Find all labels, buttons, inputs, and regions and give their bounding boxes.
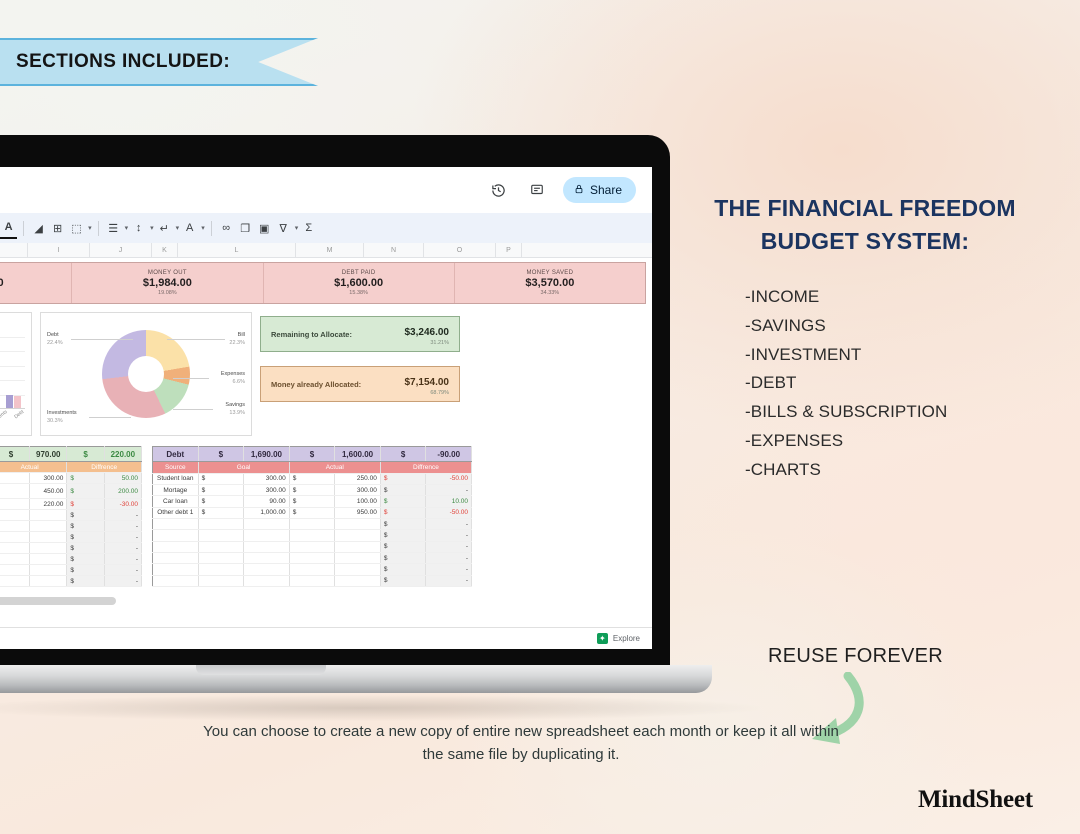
brand-logo: MindSheet	[918, 786, 1033, 814]
insert-comment-icon[interactable]: ❐	[237, 217, 254, 239]
cell-source	[153, 541, 199, 552]
cell-currency	[0, 554, 30, 565]
cell-source: Student loan	[153, 473, 199, 484]
table-row[interactable]: $-	[153, 541, 472, 552]
summary-label: DEBT PAID	[342, 270, 376, 276]
cell-currency: $	[0, 473, 30, 484]
cell-difference: -	[426, 552, 472, 563]
cell-difference: 50.00	[104, 473, 141, 484]
ribbon-label: SECTIONS INCLUDED:	[0, 51, 230, 73]
merge-cells-icon[interactable]: ⬚	[68, 217, 85, 239]
cell-currency: $	[380, 541, 426, 552]
column-goal: Goal	[198, 462, 289, 473]
donut-label-investments: Investments30.3%	[47, 409, 77, 426]
laptop-lid: Share 10 + B I S A ◢ ⊞ ⬚ ▾ ☰ ▾ ↕ ▾	[0, 135, 670, 665]
bar-chart-plot	[0, 337, 25, 409]
cell-actual: 300.00	[335, 485, 381, 496]
bar-chart-legend: GoalActual	[0, 313, 31, 325]
column-header-p[interactable]: P	[496, 243, 522, 257]
feature-item: -DEBT	[745, 369, 1040, 398]
cell-goal	[244, 541, 290, 552]
cell-difference: -	[104, 532, 141, 543]
column-header-i[interactable]: I	[28, 243, 90, 257]
cell-currency: $	[67, 484, 104, 499]
donut-leader-line	[173, 409, 213, 410]
chevron-down-icon[interactable]: ▾	[125, 224, 129, 232]
cell-actual	[30, 576, 67, 587]
summary-label: MONEY SAVED	[526, 270, 573, 276]
horizontal-scrollbar[interactable]	[0, 597, 116, 605]
donut-label-bill: Bill22.3%	[229, 331, 245, 348]
table-title-row: vings$750.00$970.00$220.00	[0, 447, 142, 462]
title-goal: 1,690.00	[244, 447, 290, 462]
table-row[interactable]: Mortage$300.00$300.00$-	[153, 485, 472, 496]
table-row[interactable]: $-	[0, 510, 142, 521]
cell-currency: $	[198, 473, 244, 484]
cell-currency	[198, 519, 244, 530]
cell-difference: -50.00	[426, 507, 472, 518]
cell-currency: $	[67, 510, 104, 521]
vertical-align-icon[interactable]: ↕	[130, 217, 147, 239]
cell-difference: -	[426, 541, 472, 552]
cell-currency	[0, 543, 30, 554]
table-row[interactable]: $-	[0, 554, 142, 565]
allocation-percent: 68.79%	[405, 390, 450, 396]
cell-currency	[289, 575, 335, 586]
reuse-forever-text: REUSE FOREVER	[768, 645, 943, 668]
cell-difference: -50.00	[426, 473, 472, 484]
table-row[interactable]: Student loan$300.00$250.00$-50.00	[153, 473, 472, 484]
goal-vs-actual-bar-chart[interactable]: GoalActual IncomeBillExpensesSavingsInve…	[0, 312, 32, 436]
table-row[interactable]: $-	[153, 575, 472, 586]
cell-currency	[289, 541, 335, 552]
cell-difference: 10.00	[426, 496, 472, 507]
column-difference: Diffrence	[67, 462, 142, 473]
summary-label: MONEY OUT	[148, 270, 187, 276]
column-header-k[interactable]: K	[152, 243, 178, 257]
charts-row: GoalActual IncomeBillExpensesSavingsInve…	[0, 304, 652, 436]
cell-difference: -	[104, 521, 141, 532]
currency-symbol: $	[198, 447, 244, 462]
summary-cell: MONEY IN$10,400.00100.00%	[0, 263, 72, 303]
cell-goal: 300.00	[244, 485, 290, 496]
allocation-boxes: Remaining to Allocate:$3,246.0031.21%Mon…	[260, 312, 460, 436]
cell-currency	[0, 532, 30, 543]
feature-list: -INCOME-SAVINGS-INVESTMENT-DEBT-BILLS & …	[745, 283, 1040, 484]
cell-currency: $	[380, 519, 426, 530]
cell-actual	[30, 565, 67, 576]
cell-difference: -	[426, 485, 472, 496]
feature-item: -INCOME	[745, 283, 1040, 312]
table-row[interactable]: $-	[0, 543, 142, 554]
explore-icon: ✦	[597, 633, 608, 644]
laptop-screen: Share 10 + B I S A ◢ ⊞ ⬚ ▾ ☰ ▾ ↕ ▾	[0, 167, 652, 649]
chevron-down-icon[interactable]: ▾	[295, 224, 299, 232]
donut-leader-line	[89, 417, 131, 418]
feature-item: -BILLS & SUBSCRIPTION	[745, 398, 1040, 427]
explore-label: Explore	[613, 634, 640, 643]
title-actual: 970.00	[30, 447, 67, 462]
toolbar-divider	[98, 221, 99, 236]
cell-currency: $	[289, 507, 335, 518]
cell-source: Mortage	[153, 485, 199, 496]
column-headers[interactable]: GHIJKLMNOP	[0, 243, 652, 258]
table-row[interactable]: d account$250.00$300.00$50.00	[0, 473, 142, 484]
allocation-percent: 31.21%	[405, 340, 450, 346]
allocation-values: $3,246.0031.21%	[405, 322, 450, 346]
cell-actual	[335, 530, 381, 541]
donut-label-expenses: Expenses6.6%	[221, 370, 245, 387]
cell-currency	[289, 519, 335, 530]
spending-breakdown-donut-chart[interactable]: Debt22.4% Bill22.3% Expenses6.6% Savings…	[40, 312, 252, 436]
cell-currency	[0, 521, 30, 532]
allocation-values: $7,154.0068.79%	[405, 372, 450, 396]
laptop-mockup: Share 10 + B I S A ◢ ⊞ ⬚ ▾ ☰ ▾ ↕ ▾	[0, 135, 670, 693]
table-row[interactable]: $-	[153, 530, 472, 541]
cell-currency	[0, 565, 30, 576]
cell-source	[153, 552, 199, 563]
share-button[interactable]: Share	[563, 177, 636, 203]
bar-goal	[6, 395, 13, 408]
cell-currency: $	[67, 532, 104, 543]
feature-item: -EXPENSES	[745, 427, 1040, 456]
cell-actual	[30, 543, 67, 554]
cell-actual	[335, 564, 381, 575]
cell-actual	[335, 519, 381, 530]
cell-currency: $	[380, 496, 426, 507]
cell-actual	[30, 510, 67, 521]
bar-actual	[14, 396, 21, 408]
cell-difference: -	[104, 554, 141, 565]
text-wrap-icon[interactable]: ↵	[156, 217, 173, 239]
cell-goal: 1,000.00	[244, 507, 290, 518]
title-difference: -90.00	[426, 447, 472, 462]
laptop-shadow	[0, 695, 760, 721]
title-actual: 1,600.00	[335, 447, 381, 462]
summary-value: $10,400.00	[0, 277, 4, 289]
cell-difference: -	[104, 565, 141, 576]
text-rotation-icon[interactable]: A	[181, 217, 198, 239]
column-header-j[interactable]: J	[90, 243, 152, 257]
bar-group	[6, 337, 21, 408]
cell-source	[153, 519, 199, 530]
borders-icon[interactable]: ⊞	[49, 217, 66, 239]
donut-leader-line	[173, 378, 209, 379]
summary-value: $3,570.00	[525, 277, 574, 289]
cell-actual	[30, 521, 67, 532]
cell-currency	[289, 552, 335, 563]
sections-included-ribbon: SECTIONS INCLUDED:	[0, 38, 318, 86]
cell-actual: 950.00	[335, 507, 381, 518]
table-header-row: ourceGoalActualDiffrence	[0, 462, 142, 473]
allocation-value: $7,154.00	[405, 377, 450, 388]
cell-difference: -	[426, 575, 472, 586]
caption-text: You can choose to create a new copy of e…	[196, 720, 846, 767]
allocation-value: $3,246.00	[405, 327, 450, 338]
cell-goal: 300.00	[244, 473, 290, 484]
insert-link-icon[interactable]: ∞	[218, 217, 235, 239]
currency-symbol: $	[0, 447, 30, 462]
column-header-l[interactable]: L	[178, 243, 296, 257]
column-header-m[interactable]: M	[296, 243, 364, 257]
feature-item: -CHARTS	[745, 456, 1040, 485]
cell-currency: $	[380, 575, 426, 586]
functions-icon[interactable]: Σ	[300, 217, 317, 239]
summary-percent: 34.33%	[541, 290, 560, 296]
cell-currency: $	[380, 564, 426, 575]
column-actual: Actual	[0, 462, 67, 473]
cell-currency	[289, 530, 335, 541]
cell-currency: $	[67, 521, 104, 532]
cell-currency	[198, 530, 244, 541]
cell-currency: $	[198, 507, 244, 518]
chevron-down-icon[interactable]: ▾	[201, 224, 205, 232]
horizontal-align-icon[interactable]: ☰	[105, 217, 122, 239]
column-header-o[interactable]: O	[424, 243, 496, 257]
donut-ring	[102, 330, 190, 418]
cell-currency	[198, 552, 244, 563]
cell-currency	[198, 575, 244, 586]
donut-label-savings: Savings13.9%	[225, 401, 245, 418]
cell-currency: $	[67, 543, 104, 554]
table-row[interactable]: ency funds$250.00$450.00$200.00	[0, 484, 142, 499]
cell-currency	[289, 564, 335, 575]
cell-source: Car loan	[153, 496, 199, 507]
toolbar-divider	[23, 221, 24, 236]
cell-difference: -	[426, 530, 472, 541]
cell-currency: $	[289, 496, 335, 507]
summary-percent: 19.08%	[158, 290, 177, 296]
page-title: THE FINANCIAL FREEDOM BUDGET SYSTEM:	[690, 192, 1040, 257]
x-axis-label: Debt	[14, 409, 37, 434]
cell-goal: 90.00	[244, 496, 290, 507]
summary-cell: MONEY SAVED$3,570.0034.33%	[455, 263, 645, 303]
donut-label-debt: Debt22.4%	[47, 331, 63, 348]
title-line-1: THE FINANCIAL FREEDOM	[690, 192, 1040, 225]
summary-value: $1,600.00	[334, 277, 383, 289]
insert-chart-icon[interactable]: ▣	[256, 217, 273, 239]
summary-cell: DEBT PAID$1,600.0015.38%	[264, 263, 455, 303]
cell-difference: -	[426, 519, 472, 530]
table-row[interactable]: $-	[0, 521, 142, 532]
laptop-base	[0, 665, 712, 693]
feature-item: -INVESTMENT	[745, 341, 1040, 370]
sheets-topbar: Share	[0, 167, 652, 213]
cell-actual	[335, 541, 381, 552]
cell-actual	[335, 552, 381, 563]
cell-source	[153, 564, 199, 575]
tables-row: vings$750.00$970.00$220.00ourceGoalActua…	[0, 436, 652, 587]
cell-actual: 450.00	[30, 484, 67, 499]
cell-currency: $	[67, 565, 104, 576]
currency-symbol: $	[67, 447, 104, 462]
cell-actual: 300.00	[30, 473, 67, 484]
savings-table[interactable]: vings$750.00$970.00$220.00ourceGoalActua…	[0, 446, 142, 587]
lock-icon	[574, 183, 584, 197]
cell-source: Other debt 1	[153, 507, 199, 518]
cell-goal	[244, 552, 290, 563]
chevron-down-icon[interactable]: ▾	[88, 224, 92, 232]
bar-chart-x-labels: IncomeBillExpensesSavingsInvestmentsDebt	[0, 409, 25, 433]
table-row[interactable]: $-	[153, 552, 472, 563]
cell-goal	[244, 575, 290, 586]
column-difference: Diffrence	[380, 462, 471, 473]
cell-currency: $	[380, 530, 426, 541]
cell-currency: $	[289, 473, 335, 484]
table-row[interactable]: $-	[153, 564, 472, 575]
summary-percent: 15.38%	[349, 290, 368, 296]
cell-currency: $	[380, 485, 426, 496]
cell-currency: $	[67, 499, 104, 510]
table-header-row: SourceGoalActualDiffrence	[153, 462, 472, 473]
cell-currency	[0, 510, 30, 521]
cell-difference: -	[104, 510, 141, 521]
cell-goal	[244, 519, 290, 530]
cell-currency: $	[67, 576, 104, 587]
allocation-box: Money already Allocated:$7,154.0068.79%	[260, 366, 460, 402]
table-title-row: Debt$1,690.00$1,600.00$-90.00	[153, 447, 472, 462]
sheets-bottom-bar: nthly spreadsheet ▾ ✦ Explore	[0, 627, 652, 649]
comment-icon[interactable]	[525, 178, 549, 202]
column-header-h[interactable]: H	[0, 243, 28, 257]
cell-currency: $	[289, 485, 335, 496]
table-row[interactable]: $-	[153, 519, 472, 530]
table-row[interactable]: $-	[0, 532, 142, 543]
chevron-down-icon[interactable]: ▾	[150, 224, 154, 232]
cell-source	[153, 575, 199, 586]
cell-currency: $	[380, 473, 426, 484]
allocation-label: Money already Allocated:	[271, 380, 361, 389]
table-row[interactable]: Car loan$90.00$100.00$10.00	[153, 496, 472, 507]
fill-color-icon[interactable]: ◢	[30, 217, 47, 239]
cell-actual	[30, 554, 67, 565]
title-line-2: BUDGET SYSTEM:	[690, 225, 1040, 258]
chevron-down-icon[interactable]: ▾	[176, 224, 180, 232]
column-actual: Actual	[289, 462, 380, 473]
column-header-n[interactable]: N	[364, 243, 424, 257]
table-row[interactable]: ple fund$250.00$220.00$-30.00	[0, 499, 142, 510]
cell-currency	[0, 576, 30, 587]
cell-currency: $	[0, 499, 30, 510]
summary-strip: MONEY IN$10,400.00100.00%MONEY OUT$1,984…	[0, 262, 646, 304]
cell-currency: $	[198, 496, 244, 507]
cell-currency: $	[67, 473, 104, 484]
cell-currency: $	[380, 507, 426, 518]
feature-item: -SAVINGS	[745, 312, 1040, 341]
cell-actual: 100.00	[335, 496, 381, 507]
right-content-panel: THE FINANCIAL FREEDOM BUDGET SYSTEM: -IN…	[690, 192, 1040, 484]
history-icon[interactable]	[487, 178, 511, 202]
cell-goal	[244, 530, 290, 541]
column-source: Source	[153, 462, 199, 473]
donut-leader-line	[71, 339, 133, 340]
cell-currency: $	[67, 554, 104, 565]
cell-difference: 200.00	[104, 484, 141, 499]
filter-icon[interactable]: ∇	[275, 217, 292, 239]
cell-goal	[244, 564, 290, 575]
table-title: Debt	[153, 447, 199, 462]
sheets-toolbar[interactable]: 10 + B I S A ◢ ⊞ ⬚ ▾ ☰ ▾ ↕ ▾ ↵ ▾ A ▾	[0, 213, 652, 243]
text-color-icon[interactable]: A	[0, 217, 17, 239]
cell-currency: $	[198, 485, 244, 496]
debt-table[interactable]: Debt$1,690.00$1,600.00$-90.00SourceGoalA…	[152, 446, 472, 587]
summary-value: $1,984.00	[143, 277, 192, 289]
donut-leader-line	[167, 339, 225, 340]
cell-actual	[30, 532, 67, 543]
share-label: Share	[590, 183, 622, 197]
spreadsheet-grid[interactable]: MONEY IN$10,400.00100.00%MONEY OUT$1,984…	[0, 258, 652, 627]
allocation-label: Remaining to Allocate:	[271, 330, 352, 339]
currency-symbol: $	[289, 447, 335, 462]
cell-currency	[198, 541, 244, 552]
title-difference: 220.00	[104, 447, 141, 462]
cell-currency	[198, 564, 244, 575]
table-row[interactable]: $-	[0, 565, 142, 576]
allocation-box: Remaining to Allocate:$3,246.0031.21%	[260, 316, 460, 352]
explore-button[interactable]: ✦ Explore	[597, 633, 640, 644]
cell-difference: -30.00	[104, 499, 141, 510]
cell-currency: $	[0, 484, 30, 499]
cell-difference: -	[104, 576, 141, 587]
table-row[interactable]: $-	[0, 576, 142, 587]
cell-actual: 250.00	[335, 473, 381, 484]
cell-currency: $	[380, 552, 426, 563]
table-row[interactable]: Other debt 1$1,000.00$950.00$-50.00	[153, 507, 472, 518]
summary-cell: MONEY OUT$1,984.0019.08%	[72, 263, 263, 303]
toolbar-divider	[211, 221, 212, 236]
cell-actual: 220.00	[30, 499, 67, 510]
cell-source	[153, 530, 199, 541]
currency-symbol: $	[380, 447, 426, 462]
cell-actual	[335, 575, 381, 586]
cell-difference: -	[104, 543, 141, 554]
cell-difference: -	[426, 564, 472, 575]
